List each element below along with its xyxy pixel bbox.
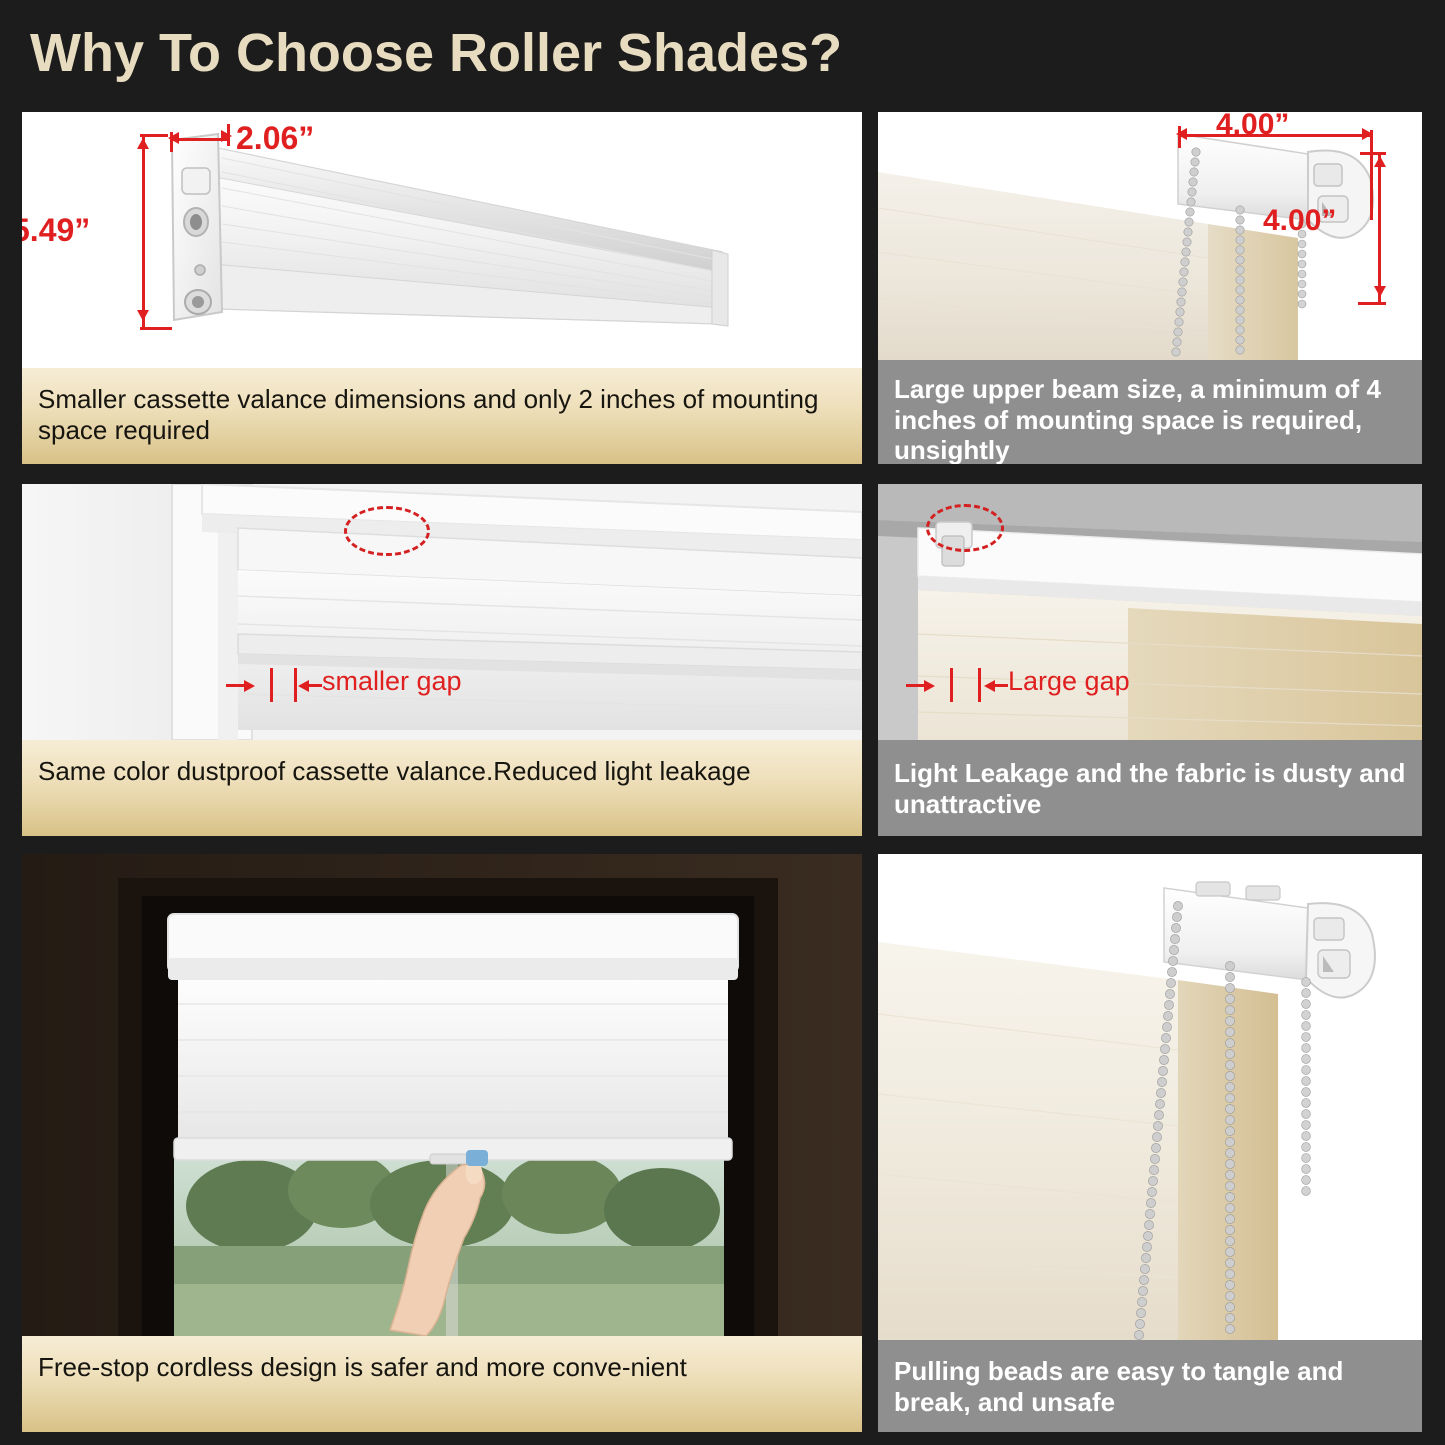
panel-bottom-left: Free-stop cordless design is safer and m… bbox=[22, 854, 862, 1432]
beam-height-arrow-up bbox=[1374, 156, 1386, 167]
cordless-shade-window-photo bbox=[22, 854, 862, 1336]
beam-width-arrow-right bbox=[1362, 128, 1373, 140]
gap-line-left bbox=[906, 684, 926, 687]
dim-height-line bbox=[142, 134, 145, 330]
beam-width-label: 4.00” bbox=[1216, 112, 1289, 142]
panel-middle-right-image: Large gap bbox=[878, 484, 1422, 740]
caption-bottom-left: Free-stop cordless design is safer and m… bbox=[22, 1336, 862, 1432]
beam-height-label: 4.00” bbox=[1263, 204, 1336, 238]
panel-top-right-image: 4.00” 4.00” bbox=[878, 112, 1422, 360]
dashed-ellipse-marker bbox=[926, 504, 1004, 552]
gap-tick-left bbox=[950, 668, 953, 702]
beam-height-line bbox=[1378, 152, 1381, 304]
panel-bottom-left-image bbox=[22, 854, 862, 1336]
bead-chain-shade-illustration bbox=[878, 854, 1422, 1340]
dim-width-label: 2.06” bbox=[236, 120, 314, 157]
dim-height-tick-bottom bbox=[140, 327, 172, 330]
caption-middle-left: Same color dustproof cassette valance.Re… bbox=[22, 740, 862, 836]
dashed-ellipse-marker bbox=[344, 506, 430, 556]
beam-height-arrow-down bbox=[1374, 286, 1386, 297]
panel-grid: 2.06” 5.49” Smaller cassette valance dim… bbox=[22, 112, 1422, 1432]
panel-top-left: 2.06” 5.49” Smaller cassette valance dim… bbox=[22, 112, 862, 464]
window-cassette-illustration bbox=[22, 484, 862, 740]
caption-top-right: Large upper beam size, a minimum of 4 in… bbox=[878, 360, 1422, 464]
dim-height-tick-top bbox=[140, 134, 168, 137]
page-title: Why To Choose Roller Shades? bbox=[30, 22, 842, 84]
dim-width-arrow-left bbox=[168, 132, 179, 144]
panel-middle-right: Large gap Light Leakage and the fabric i… bbox=[878, 484, 1422, 836]
panel-top-right: 4.00” 4.00” Large upper beam size, a min… bbox=[878, 112, 1422, 464]
beam-width-arrow-left bbox=[1176, 128, 1187, 140]
gap-tick-right bbox=[978, 668, 981, 702]
gap-tick-right bbox=[294, 668, 297, 702]
panel-middle-left-image: smaller gap bbox=[22, 484, 862, 740]
panel-bottom-right-image bbox=[878, 854, 1422, 1340]
gap-label-smaller: smaller gap bbox=[322, 666, 462, 697]
dim-height-label: 5.49” bbox=[22, 212, 90, 249]
dim-width-arrow-right bbox=[221, 130, 232, 142]
gap-label-large: Large gap bbox=[1008, 666, 1130, 697]
caption-middle-right: Light Leakage and the fabric is dusty an… bbox=[878, 740, 1422, 836]
panel-bottom-right: Pulling beads are easy to tangle and bre… bbox=[878, 854, 1422, 1432]
caption-top-left: Smaller cassette valance dimensions and … bbox=[22, 368, 862, 464]
dim-height-arrow-up bbox=[137, 138, 149, 149]
large-beam-illustration bbox=[878, 112, 1422, 360]
panel-middle-left: smaller gap Same color dustproof cassett… bbox=[22, 484, 862, 836]
gap-tick-left bbox=[270, 668, 273, 702]
beam-width-tick-right bbox=[1370, 130, 1373, 220]
gap-line-right bbox=[308, 684, 322, 687]
gap-line-right bbox=[994, 684, 1008, 687]
dim-height-arrow-down bbox=[137, 310, 149, 321]
caption-bottom-right: Pulling beads are easy to tangle and bre… bbox=[878, 1340, 1422, 1432]
beam-height-tick-top bbox=[1360, 152, 1386, 155]
panel-top-left-image: 2.06” 5.49” bbox=[22, 112, 862, 368]
gap-line-left bbox=[226, 684, 248, 687]
product-infographic: Why To Choose Roller Shades? bbox=[0, 0, 1445, 1445]
beam-height-tick-bottom bbox=[1358, 302, 1386, 305]
